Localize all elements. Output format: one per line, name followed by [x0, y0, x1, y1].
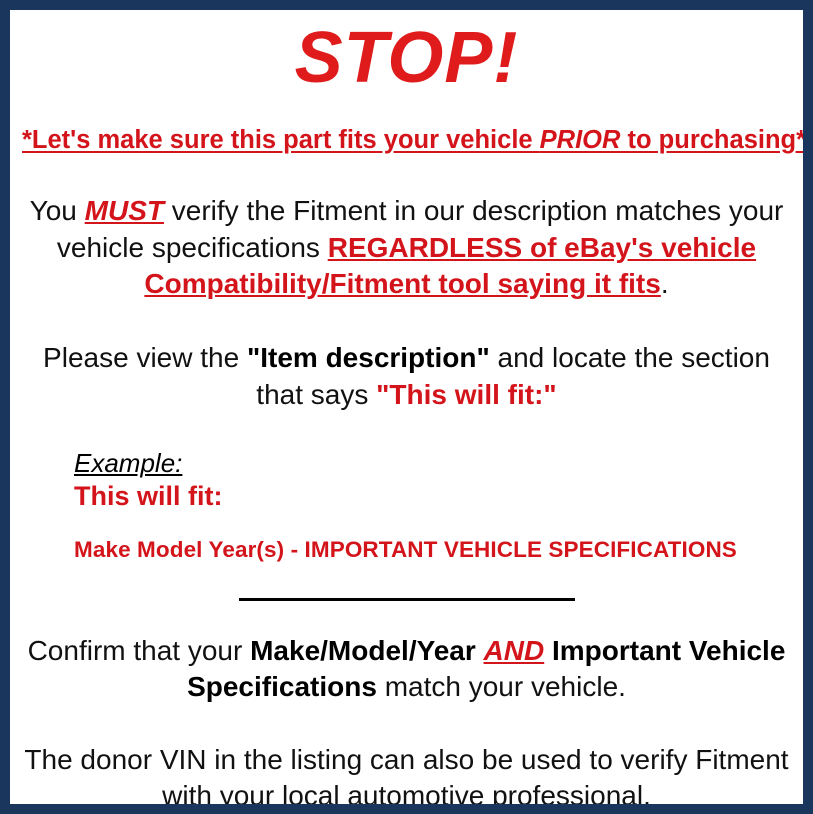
- tagline-emphasis-prior: PRIOR: [540, 126, 621, 154]
- example-fit-header: This will fit:: [74, 480, 791, 512]
- section-divider: [239, 598, 575, 601]
- paragraph-please-view: Please view the "Item description" and l…: [22, 340, 791, 413]
- paragraph-must-verify: You MUST verify the Fitment in our descr…: [22, 193, 791, 302]
- tagline-banner: *Let's make sure this part fits your veh…: [22, 126, 791, 155]
- confirm-part1: Confirm that your: [28, 635, 251, 666]
- must-part3: .: [661, 268, 669, 299]
- item-description-emphasis: "Item description": [247, 342, 490, 373]
- example-block: Example: This will fit: Make Model Year(…: [22, 449, 791, 563]
- page-title: STOP!: [22, 22, 791, 94]
- notice-content: STOP! *Let's make sure this part fits yo…: [10, 22, 803, 814]
- and-emphasis: AND: [484, 635, 545, 666]
- paragraph-donor-vin: The donor VIN in the listing can also be…: [22, 742, 791, 814]
- tagline-prefix: *Let's make sure this part fits your veh…: [22, 126, 540, 154]
- confirm-part4: match your vehicle.: [377, 671, 626, 702]
- this-will-fit-emphasis: "This will fit:": [376, 379, 557, 410]
- fitment-notice-card: STOP! *Let's make sure this part fits yo…: [0, 0, 813, 814]
- tagline-suffix: to purchasing*: [620, 126, 806, 154]
- example-label: Example:: [74, 449, 791, 478]
- divider-wrapper: [22, 591, 791, 603]
- paragraph-confirm: Confirm that your Make/Model/Year AND Im…: [22, 633, 791, 706]
- must-emphasis: MUST: [85, 195, 164, 226]
- confirm-part3: [544, 635, 552, 666]
- make-model-year-emphasis: Make/Model/Year: [250, 635, 476, 666]
- confirm-part2: [476, 635, 484, 666]
- example-spec-line: Make Model Year(s) - IMPORTANT VEHICLE S…: [74, 537, 791, 563]
- please-part1: Please view the: [43, 342, 247, 373]
- must-part1: You: [30, 195, 85, 226]
